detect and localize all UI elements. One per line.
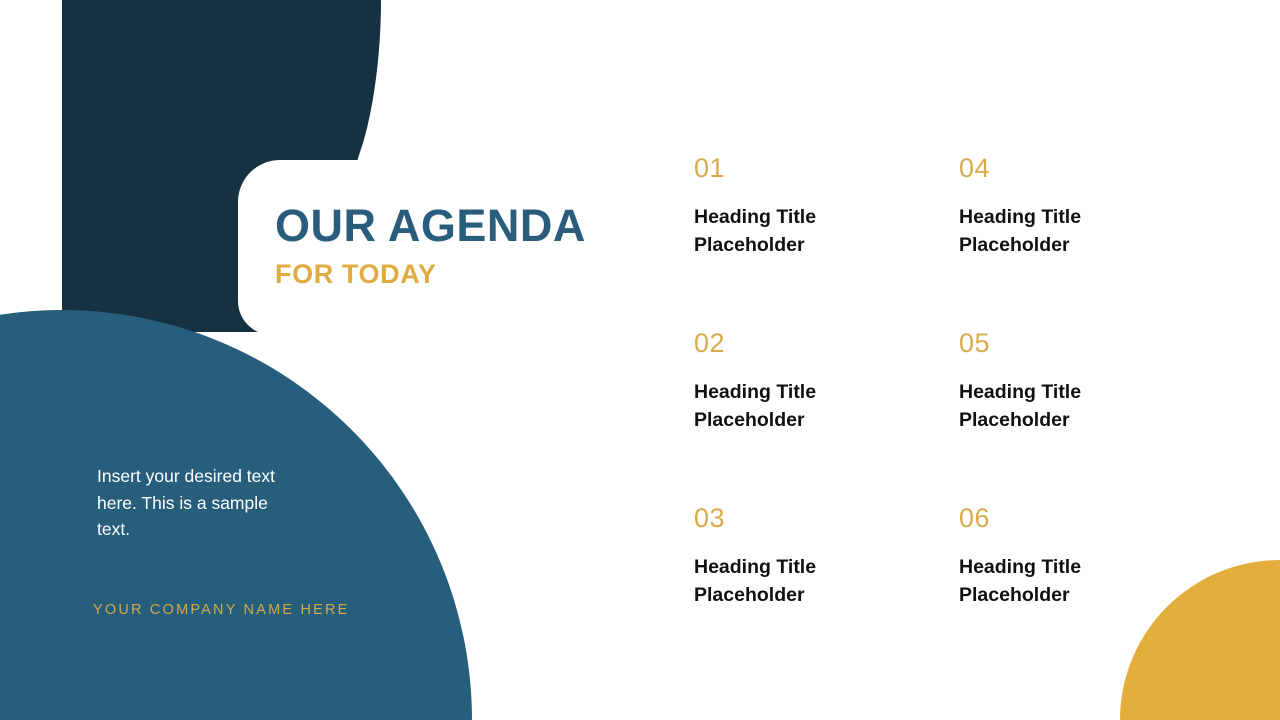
agenda-number: 03: [694, 505, 959, 532]
agenda-heading: Heading Title Placeholder: [959, 379, 1134, 434]
agenda-item-02[interactable]: 02 Heading Title Placeholder: [694, 330, 959, 505]
company-name-label: YOUR COMPANY NAME HERE: [93, 602, 350, 618]
sidebar-body-text: Insert your desired text here. This is a…: [97, 463, 302, 543]
agenda-heading: Heading Title Placeholder: [959, 554, 1134, 609]
agenda-heading: Heading Title Placeholder: [959, 204, 1134, 259]
agenda-number: 04: [959, 155, 1194, 182]
agenda-item-05[interactable]: 05 Heading Title Placeholder: [959, 330, 1194, 505]
agenda-item-04[interactable]: 04 Heading Title Placeholder: [959, 155, 1194, 330]
page-subtitle: FOR TODAY: [275, 260, 586, 288]
slide-canvas: OUR AGENDA FOR TODAY Insert your desired…: [0, 0, 1280, 720]
agenda-number: 05: [959, 330, 1194, 357]
agenda-item-01[interactable]: 01 Heading Title Placeholder: [694, 155, 959, 330]
agenda-item-03[interactable]: 03 Heading Title Placeholder: [694, 505, 959, 680]
agenda-heading: Heading Title Placeholder: [694, 379, 869, 434]
agenda-number: 06: [959, 505, 1194, 532]
agenda-heading: Heading Title Placeholder: [694, 554, 869, 609]
agenda-grid: 01 Heading Title Placeholder 04 Heading …: [694, 155, 1194, 680]
agenda-heading: Heading Title Placeholder: [694, 204, 869, 259]
agenda-number: 01: [694, 155, 959, 182]
page-title: OUR AGENDA: [275, 202, 586, 250]
agenda-item-06[interactable]: 06 Heading Title Placeholder: [959, 505, 1194, 680]
title-block: OUR AGENDA FOR TODAY: [275, 202, 586, 288]
agenda-number: 02: [694, 330, 959, 357]
